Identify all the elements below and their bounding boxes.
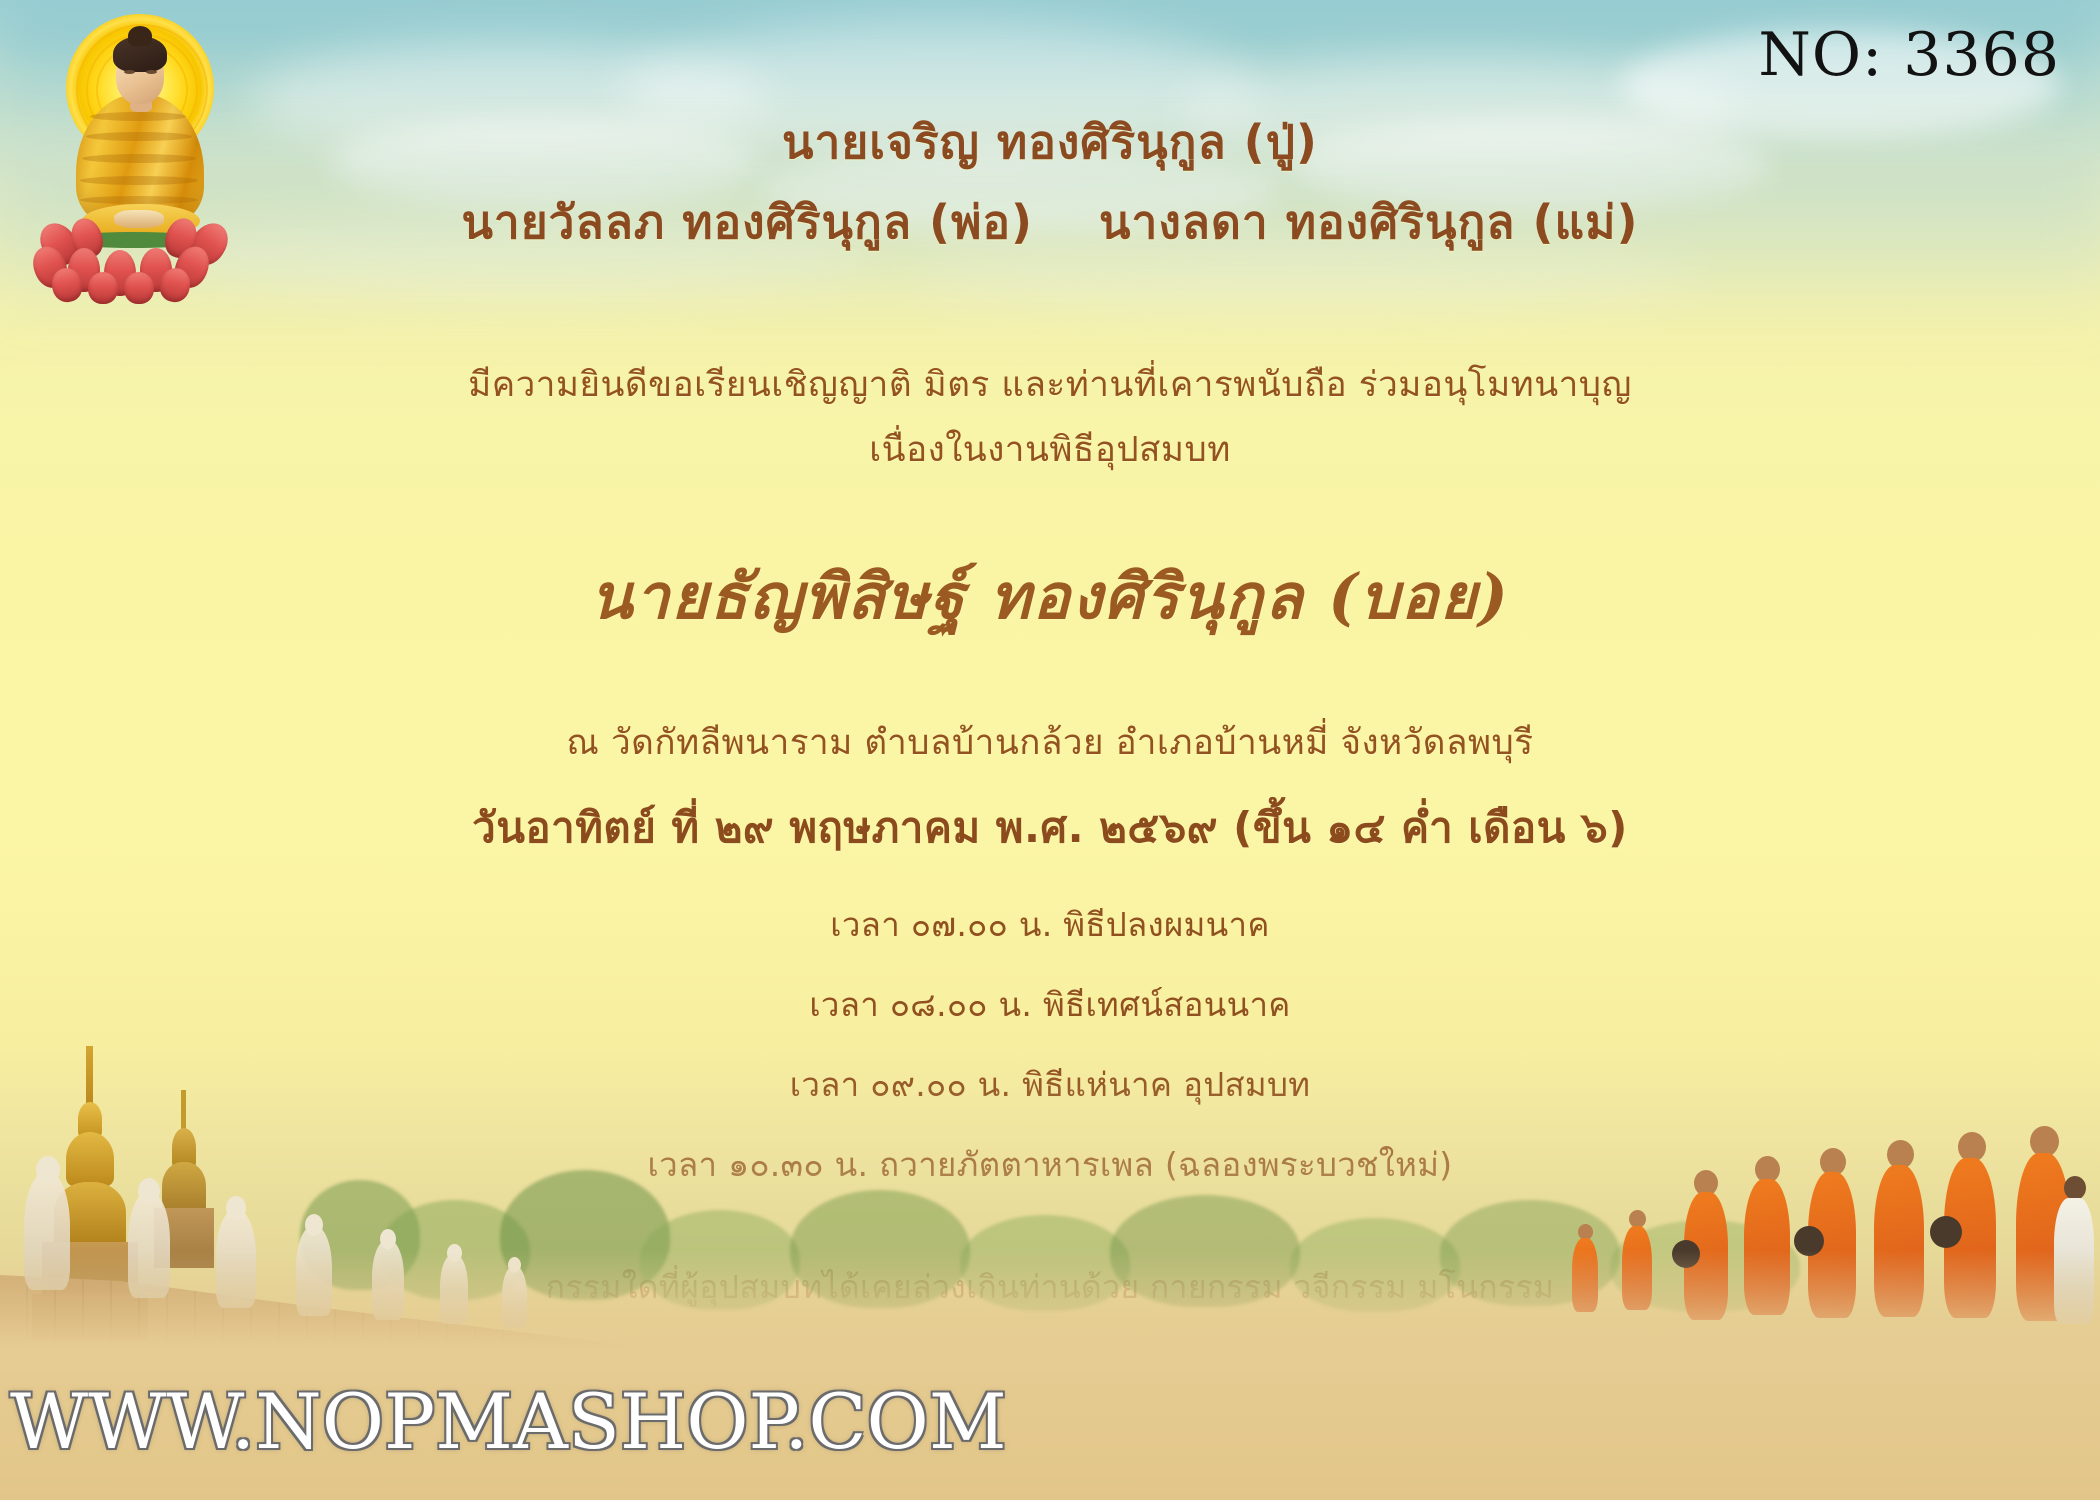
lotus-petal	[124, 272, 154, 304]
buddha-ushnisha	[128, 26, 152, 46]
monk-head	[1578, 1224, 1593, 1240]
buddha-statue-head	[226, 1196, 246, 1220]
invitation-card: NO: 3368 นายเจริญ ทองศิรินุกูล (ปู่) นาย…	[0, 0, 2100, 1500]
host-mother: นางลดา ทองศิรินุกูล (แม่)	[1099, 186, 1638, 259]
buddha-statue-head	[305, 1214, 323, 1236]
serial-number: NO: 3368	[1758, 20, 2060, 90]
schedule-item: เวลา ๐๘.๐๐ น. พิธีเทศน์สอนนาค	[0, 978, 2100, 1031]
ordinand-name: นายธัญพิสิษฐ์ ทองศิรินุกูล (บอย)	[0, 548, 2100, 646]
site-watermark: WWW.NOPMASHOP.COM	[10, 1377, 1007, 1466]
schedule-item: เวลา ๑๐.๓๐ น. ถวายภัตตาหารเพล (ฉลองพระบว…	[0, 1138, 2100, 1191]
schedule-item: เวลา ๐๙.๐๐ น. พิธีแห่นาค อุปสมบท	[0, 1058, 2100, 1111]
schedule-item: เวลา ๐๗.๐๐ น. พิธีปลงผมนาค	[0, 898, 2100, 951]
lotus-petal	[88, 272, 118, 304]
host-parents-row: นายวัลลภ ทองศิรินุกูล (พ่อ) นางลดา ทองศิ…	[0, 186, 2100, 259]
invitation-line-1: มีความยินดีขอเรียนเชิญญาติ มิตร และท่านท…	[0, 357, 2100, 412]
host-father: นายวัลลภ ทองศิรินุกูล (พ่อ)	[461, 186, 1033, 259]
alms-bowl	[1930, 1216, 1962, 1248]
venue-place: ณ วัดกัทลีพนาราม ตำบลบ้านกล้วย อำเภอบ้าน…	[0, 715, 2100, 770]
buddha-statue-head	[380, 1229, 396, 1249]
monk-head	[1629, 1210, 1646, 1228]
venue-date: วันอาทิตย์ ที่ ๒๙ พฤษภาคม พ.ศ. ๒๕๖๙ (ขึ้…	[0, 795, 2100, 861]
invitation-line-2: เนื่องในงานพิธีอุปสมบท	[0, 422, 2100, 477]
host-grandfather: นายเจริญ ทองศิรินุกูล (ปู่)	[0, 106, 2100, 179]
